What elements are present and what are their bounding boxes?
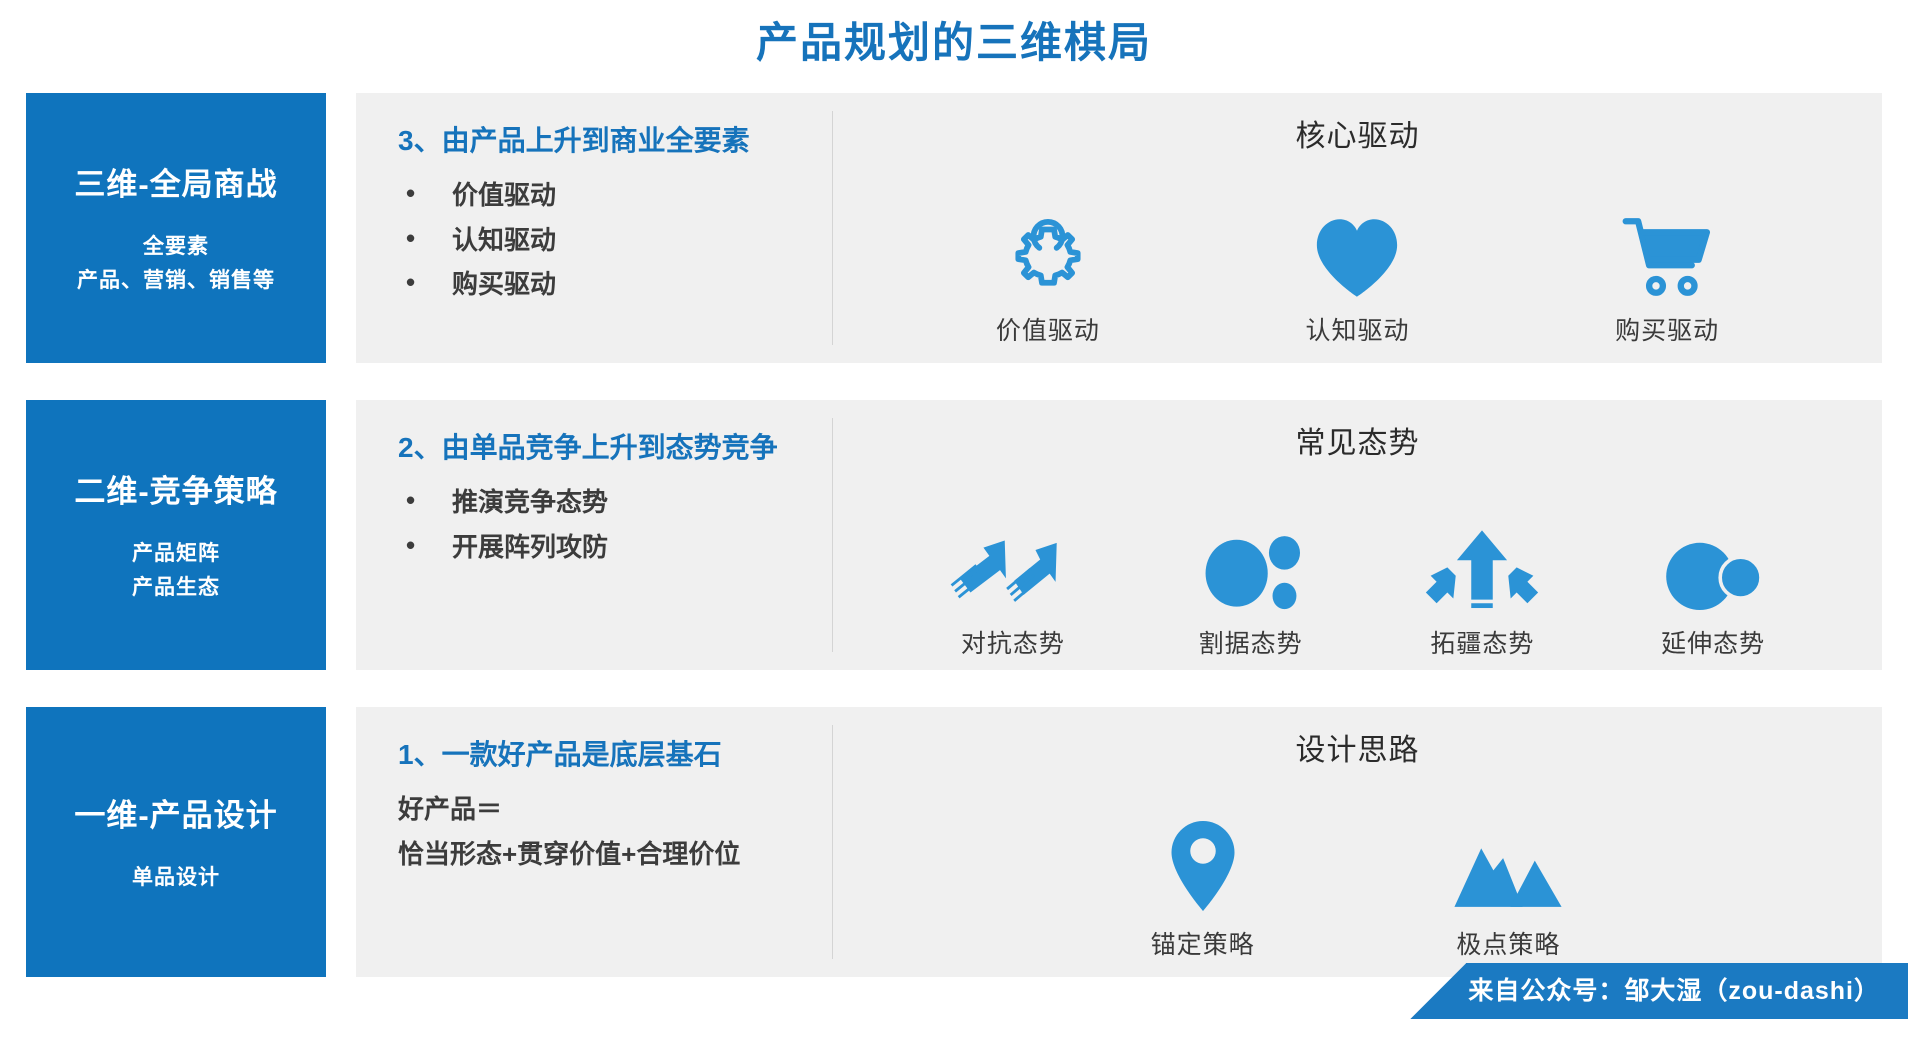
level-subtitle-line-2: 产品生态 <box>132 571 220 605</box>
content-panel-1d: 1、一款好产品是底层基石 好产品＝ 恰当形态+贯穿价值+合理价位 设计思路 <box>356 707 1882 977</box>
mountain-peaks-icon <box>1452 819 1564 915</box>
icon-label: 极点策略 <box>1456 925 1560 961</box>
dimension-row-2: 二维-竞争策略 产品矩阵 产品生态 2、由单品竞争上升到态势竞争 推演竞争态势 … <box>26 400 1882 670</box>
icon-block-2d: 常见态势 对抗态势 <box>833 400 1882 670</box>
list-item: 认知驱动 <box>398 218 814 263</box>
formula-line-1: 好产品＝ <box>398 787 814 832</box>
icon-row: 对抗态势 割据态势 <box>833 468 1882 670</box>
icon-label: 购买驱动 <box>1615 311 1719 347</box>
icon-item-confrontation[interactable]: 对抗态势 <box>948 518 1078 660</box>
list-item: 购买驱动 <box>398 262 814 307</box>
icon-item-peak-strategy[interactable]: 极点策略 <box>1452 819 1564 961</box>
row-gap <box>326 93 356 363</box>
level-title: 二维-竞争策略 <box>74 466 277 511</box>
level-title: 三维-全局商战 <box>74 159 277 204</box>
level-subtitle-line-1: 单品设计 <box>132 861 220 895</box>
block-heading: 1、一款好产品是底层基石 <box>398 733 814 773</box>
icon-label: 认知驱动 <box>1305 311 1409 347</box>
list-item: 价值驱动 <box>398 173 814 218</box>
level-subtitle-line-2: 产品、营销、销售等 <box>77 264 275 298</box>
text-block-1d: 1、一款好产品是底层基石 好产品＝ 恰当形态+贯穿价值+合理价位 <box>356 707 832 977</box>
level-panel-1d[interactable]: 一维-产品设计 单品设计 <box>26 707 326 977</box>
heart-icon <box>1311 205 1403 301</box>
icon-label: 拓疆态势 <box>1430 624 1534 660</box>
block-heading: 2、由单品竞争上升到态势竞争 <box>398 426 814 466</box>
icon-row: 价值驱动 认知驱动 <box>833 161 1882 363</box>
formula-line-2: 恰当形态+贯穿价值+合理价位 <box>398 832 814 877</box>
icon-item-anchor-strategy[interactable]: 锚定策略 <box>1151 819 1255 961</box>
icon-row: 锚定策略 极点策略 <box>833 775 1882 977</box>
icon-section-title: 核心驱动 <box>833 111 1882 155</box>
banner-text: 来自公众号：邹大湿（zou-dashi） <box>1466 963 1908 1019</box>
icon-item-extension[interactable]: 延伸态势 <box>1659 518 1767 660</box>
block-heading: 3、由产品上升到商业全要素 <box>398 119 814 159</box>
bullet-list: 推演竞争态势 开展阵列攻防 <box>398 480 814 569</box>
two-arrows-clash-icon <box>948 518 1078 614</box>
banner-wedge <box>1410 963 1466 1019</box>
icon-label: 延伸态势 <box>1661 624 1765 660</box>
list-item: 开展阵列攻防 <box>398 525 814 570</box>
icon-label: 对抗态势 <box>961 624 1065 660</box>
icon-item-expansion[interactable]: 拓疆态势 <box>1423 518 1541 660</box>
level-panel-2d[interactable]: 二维-竞争策略 产品矩阵 产品生态 <box>26 400 326 670</box>
expanding-arrows-icon <box>1423 518 1541 614</box>
list-item: 推演竞争态势 <box>398 480 814 525</box>
icon-item-purchase-driven[interactable]: 购买驱动 <box>1615 205 1719 347</box>
icon-item-value-driven[interactable]: 价值驱动 <box>996 205 1100 347</box>
bullet-list: 价值驱动 认知驱动 购买驱动 <box>398 173 814 307</box>
dimension-row-1: 一维-产品设计 单品设计 1、一款好产品是底层基石 好产品＝ 恰当形态+贯穿价值… <box>26 707 1882 977</box>
icon-label: 割据态势 <box>1199 624 1303 660</box>
icon-item-separatism[interactable]: 割据态势 <box>1196 518 1306 660</box>
level-panel-3d[interactable]: 三维-全局商战 全要素 产品、营销、销售等 <box>26 93 326 363</box>
text-block-3d: 3、由产品上升到商业全要素 价值驱动 认知驱动 购买驱动 <box>356 93 832 363</box>
row-gap <box>326 400 356 670</box>
icon-item-cognition-driven[interactable]: 认知驱动 <box>1305 205 1409 347</box>
split-circles-icon <box>1196 518 1306 614</box>
level-title: 一维-产品设计 <box>74 790 277 835</box>
row-gap <box>326 707 356 977</box>
content-panel-3d: 3、由产品上升到商业全要素 价值驱动 认知驱动 购买驱动 核心驱动 <box>356 93 1882 363</box>
level-subtitle-line-1: 产品矩阵 <box>132 537 220 571</box>
icon-block-3d: 核心驱动 价值驱动 <box>833 93 1882 363</box>
map-pin-icon <box>1167 819 1239 915</box>
content-panel-2d: 2、由单品竞争上升到态势竞争 推演竞争态势 开展阵列攻防 常见态势 <box>356 400 1882 670</box>
level-subtitle-line-1: 全要素 <box>143 230 209 264</box>
text-block-2d: 2、由单品竞争上升到态势竞争 推演竞争态势 开展阵列攻防 <box>356 400 832 670</box>
icon-section-title: 设计思路 <box>833 725 1882 769</box>
dimension-row-3: 三维-全局商战 全要素 产品、营销、销售等 3、由产品上升到商业全要素 价值驱动… <box>26 93 1882 363</box>
two-overlapping-circles-icon <box>1659 518 1767 614</box>
gear-icon <box>1006 205 1090 301</box>
slide-canvas: 产品规划的三维棋局 三维-全局商战 全要素 产品、营销、销售等 3、由产品上升到… <box>0 0 1908 1041</box>
source-banner: 来自公众号：邹大湿（zou-dashi） <box>1410 963 1908 1019</box>
icon-label: 锚定策略 <box>1151 925 1255 961</box>
icon-label: 价值驱动 <box>996 311 1100 347</box>
icon-section-title: 常见态势 <box>833 418 1882 462</box>
shopping-cart-icon <box>1620 205 1714 301</box>
icon-block-1d: 设计思路 锚定策略 <box>833 707 1882 977</box>
page-title: 产品规划的三维棋局 <box>0 18 1908 68</box>
